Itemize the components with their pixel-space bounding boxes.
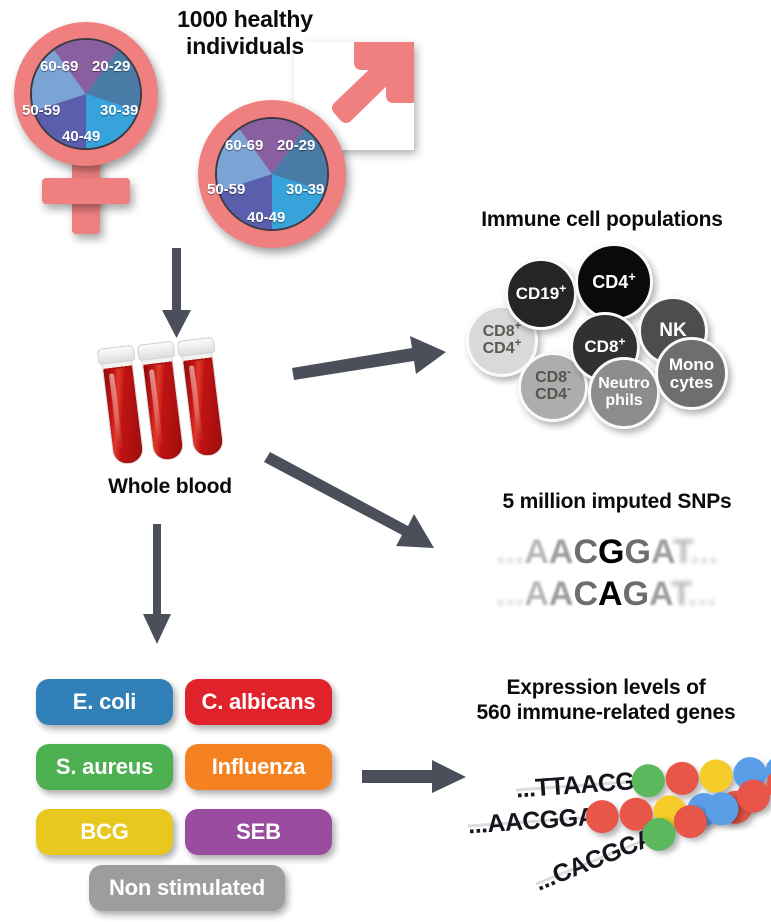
expression-dot xyxy=(664,761,699,796)
expression-strand-group: ...TTAACGG ...AACGGAT ...CACGCAA xyxy=(0,0,771,922)
figure-canvas: 1000 healthy individuals 20-29 30-39 40-… xyxy=(0,0,771,922)
